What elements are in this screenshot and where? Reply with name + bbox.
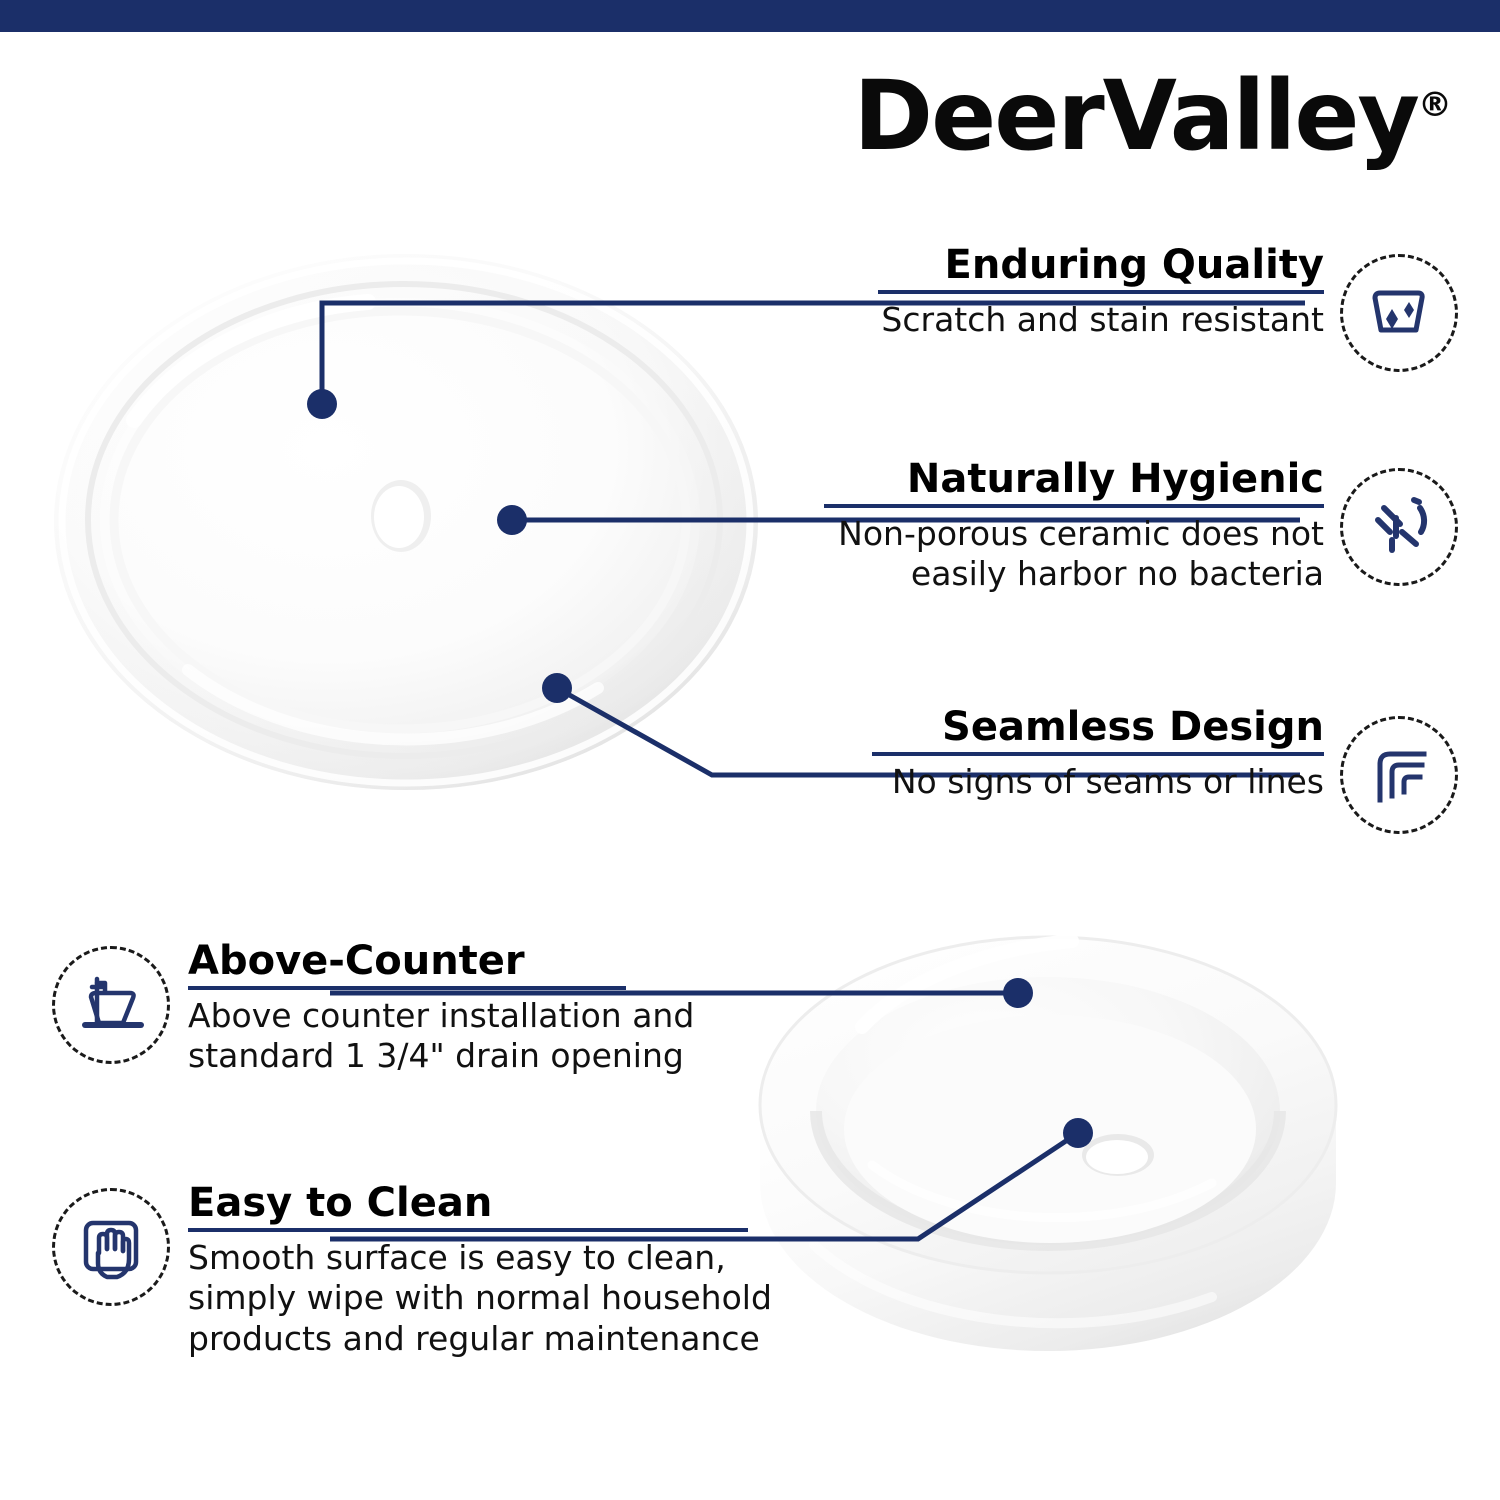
feature-description: Scratch and stain resistant <box>881 300 1324 340</box>
drain-hole <box>374 486 424 548</box>
feature-title: Easy to Clean <box>188 1182 492 1224</box>
feature-text-block: Seamless Design No signs of seams or lin… <box>872 706 1324 802</box>
feature-icon-badge <box>1340 254 1458 372</box>
feature-easy-to-clean: Easy to Clean Smooth surface is easy to … <box>52 1182 772 1359</box>
infographic-canvas: DeerValley® <box>0 0 1500 1500</box>
round-vessel-sink-image <box>742 915 1352 1415</box>
drain-hole <box>1086 1140 1148 1174</box>
brand-logo: DeerValley® <box>853 68 1452 164</box>
feature-title: Enduring Quality <box>945 244 1324 286</box>
bacteria-icon <box>1362 490 1436 564</box>
basin-sparkle-icon <box>1362 276 1436 350</box>
feature-description: Non-porous ceramic does not easily harbo… <box>838 514 1324 595</box>
feature-description: No signs of seams or lines <box>892 762 1324 802</box>
feature-icon-badge <box>1340 468 1458 586</box>
feature-title: Above-Counter <box>188 940 525 982</box>
feature-icon-badge <box>52 946 170 1064</box>
feature-above-counter: Above-Counter Above counter installation… <box>52 940 694 1077</box>
sink-faucet-icon <box>73 967 149 1043</box>
feature-text-block: Naturally Hygienic Non-porous ceramic do… <box>824 458 1324 595</box>
feature-icon-badge <box>52 1188 170 1306</box>
feature-text-block: Above-Counter Above counter installation… <box>188 940 694 1077</box>
feature-title: Seamless Design <box>942 706 1324 748</box>
nested-corners-icon <box>1362 738 1436 812</box>
brand-name: DeerValley <box>853 60 1418 172</box>
feature-enduring-quality: Enduring Quality Scratch and stain resis… <box>878 244 1458 372</box>
hand-wipe-icon <box>73 1209 149 1285</box>
oval-vessel-sink-image <box>38 240 778 800</box>
feature-seamless-design: Seamless Design No signs of seams or lin… <box>872 706 1458 834</box>
feature-text-block: Easy to Clean Smooth surface is easy to … <box>188 1182 772 1359</box>
sink-bowl-floor <box>844 1015 1256 1243</box>
feature-description: Smooth surface is easy to clean, simply … <box>188 1238 772 1359</box>
feature-naturally-hygienic: Naturally Hygienic Non-porous ceramic do… <box>824 458 1458 595</box>
feature-divider <box>188 1228 748 1232</box>
feature-divider <box>872 752 1324 756</box>
feature-icon-badge <box>1340 716 1458 834</box>
feature-divider <box>878 290 1324 294</box>
feature-description: Above counter installation and standard … <box>188 996 694 1077</box>
feature-title: Naturally Hygienic <box>907 458 1324 500</box>
registered-trademark-icon: ® <box>1418 85 1452 125</box>
feature-divider <box>188 986 626 990</box>
feature-text-block: Enduring Quality Scratch and stain resis… <box>878 244 1324 340</box>
feature-divider <box>824 504 1324 508</box>
top-navy-band <box>0 0 1500 32</box>
